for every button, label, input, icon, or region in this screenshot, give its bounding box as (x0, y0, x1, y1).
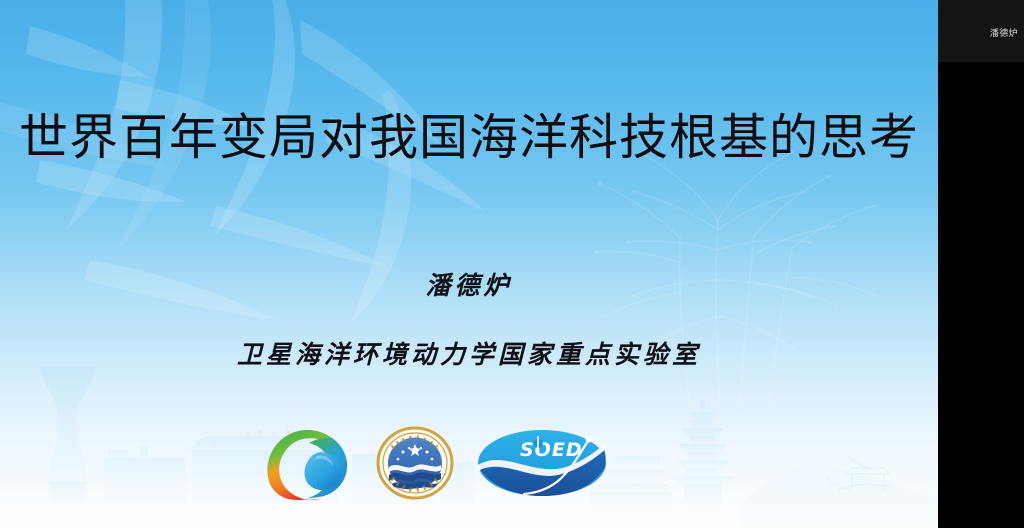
logo-row: SOED (262, 425, 632, 505)
shared-slide[interactable]: 世界百年变局对我国海洋科技根基的思考 潘德炉 卫星海洋环境动力学国家重点实验室 (0, 0, 938, 528)
participant-name-label: 潘德炉 (990, 26, 1018, 39)
soed-lab-logo: SOED (476, 427, 608, 504)
slide-title: 世界百年变局对我国海洋科技根基的思考 (0, 112, 938, 163)
firework-sparkle-watermark (530, 40, 930, 440)
soed-wordmark: SOED (520, 439, 583, 461)
slide-author-name: 潘德炉 (0, 266, 938, 302)
slide-affiliation: 卫星海洋环境动力学国家重点实验室 (0, 335, 938, 371)
screen-share-window: 世界百年变局对我国海洋科技根基的思考 潘德炉 卫星海洋环境动力学国家重点实验室 (0, 0, 1024, 528)
second-institute-oceanography-seal (376, 425, 454, 506)
sio-swirl-logo (262, 426, 354, 505)
participant-rail[interactable]: 潘德炉 (938, 0, 1024, 528)
participant-video-tile[interactable]: 潘德炉 (938, 0, 1024, 62)
